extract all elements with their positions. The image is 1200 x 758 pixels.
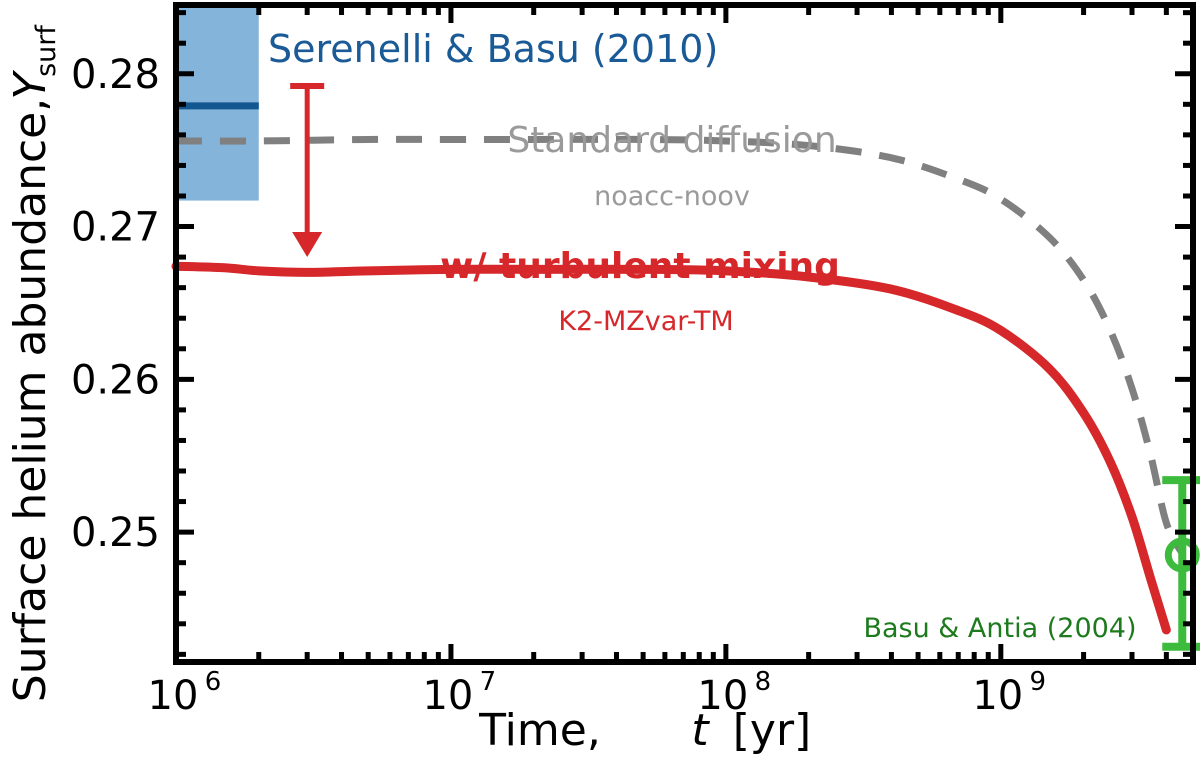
x-tick-label-mantissa: 10 bbox=[972, 673, 1023, 719]
svg-text:t: t bbox=[691, 705, 710, 756]
y-tick-label: 0.25 bbox=[71, 510, 160, 556]
figure-canvas: 0.280.270.260.25 106107108109 Time, t [y… bbox=[0, 0, 1200, 758]
svg-text:surf: surf bbox=[31, 24, 62, 77]
x-tick-label-exponent: 7 bbox=[480, 667, 497, 697]
x-axis-title-italic: t bbox=[691, 705, 710, 756]
y-tick-label: 0.27 bbox=[71, 205, 160, 251]
helium-abundance-chart: 0.280.270.260.25 106107108109 Time, t [y… bbox=[0, 0, 1200, 758]
svg-text:[yr]: [yr] bbox=[733, 705, 811, 756]
y-tick-label: 0.28 bbox=[71, 52, 160, 98]
y-axis-title-subscript: surf bbox=[31, 24, 62, 77]
serenelli-basu-label: Serenelli & Basu (2010) bbox=[268, 27, 718, 71]
y-axis-title-main: Surface helium abundance, bbox=[5, 98, 56, 702]
basu-antia-label: Basu & Antia (2004) bbox=[863, 613, 1136, 644]
svg-text:Time,: Time, bbox=[478, 705, 601, 756]
serenelli-basu-band-group bbox=[176, 5, 259, 201]
turbulent-mixing-label: w/ turbulent mixing bbox=[440, 246, 840, 287]
y-tick-label: 0.26 bbox=[71, 357, 160, 403]
x-tick-label-mantissa: 10 bbox=[148, 673, 199, 719]
svg-text:Surface helium abundance,: Surface helium abundance, bbox=[5, 98, 56, 702]
x-axis-title-unit: [yr] bbox=[733, 705, 811, 756]
x-tick-label-exponent: 8 bbox=[755, 667, 772, 697]
solar-symbol-dot bbox=[1180, 553, 1185, 558]
x-tick-label-exponent: 9 bbox=[1030, 667, 1047, 697]
standard-diffusion-label: Standard diffusion bbox=[507, 120, 836, 161]
x-axis-title-main: Time, bbox=[478, 705, 601, 756]
x-tick-label-mantissa: 10 bbox=[422, 673, 473, 719]
y-axis-title: Surface helium abundance, Y surf bbox=[5, 24, 62, 703]
x-tick-label-exponent: 6 bbox=[205, 667, 222, 697]
turbulent-mixing-model-id: K2-MZvar-TM bbox=[558, 306, 733, 337]
standard-diffusion-model-id: noacc-noov bbox=[594, 181, 750, 212]
